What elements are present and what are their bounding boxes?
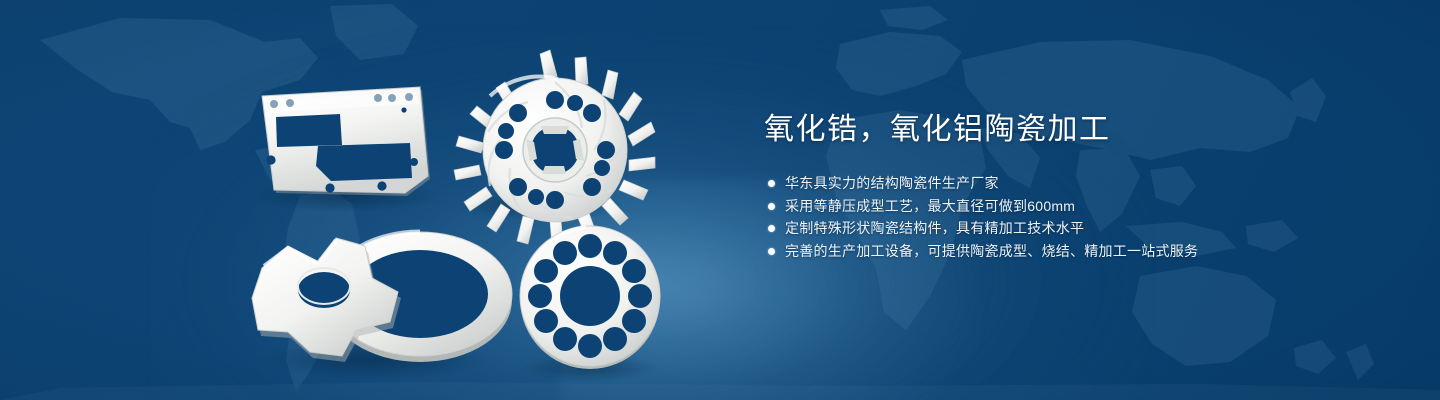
page-title: 氧化锆，氧化铝陶瓷加工 <box>764 110 1324 150</box>
filled-dot-icon <box>768 225 775 232</box>
product-ceramic-cross-plate-and-ring <box>252 232 512 380</box>
list-item-label: 完善的生产加工设备，可提供陶瓷成型、烧结、精加工一站式服务 <box>785 243 1198 259</box>
product-photo-group <box>0 0 700 400</box>
filled-dot-icon <box>768 203 775 210</box>
list-item: 完善的生产加工设备，可提供陶瓷成型、烧结、精加工一站式服务 <box>764 240 1324 263</box>
product-ceramic-perforated-disc <box>520 226 660 382</box>
list-item: 定制特殊形状陶瓷结构件，具有精加工技术水平 <box>764 217 1324 240</box>
list-item: 采用等静压成型工艺，最大直径可做到600mm <box>764 195 1324 218</box>
list-item-label: 定制特殊形状陶瓷结构件，具有精加工技术水平 <box>785 220 1084 236</box>
list-item-label: 华东具实力的结构陶瓷件生产厂家 <box>785 175 999 191</box>
filled-dot-icon <box>768 248 775 255</box>
list-item: 华东具实力的结构陶瓷件生产厂家 <box>764 172 1324 195</box>
hero-copy: 氧化锆，氧化铝陶瓷加工 华东具实力的结构陶瓷件生产厂家 采用等静压成型工艺，最大… <box>764 110 1324 262</box>
product-ceramic-machined-plate <box>249 87 441 212</box>
product-ceramic-vane-impeller <box>454 50 655 247</box>
feature-list: 华东具实力的结构陶瓷件生产厂家 采用等静压成型工艺，最大直径可做到600mm 定… <box>764 172 1324 262</box>
hero-banner: 氧化锆，氧化铝陶瓷加工 华东具实力的结构陶瓷件生产厂家 采用等静压成型工艺，最大… <box>0 0 1440 400</box>
filled-dot-icon <box>768 180 775 187</box>
list-item-label: 采用等静压成型工艺，最大直径可做到600mm <box>785 198 1075 214</box>
